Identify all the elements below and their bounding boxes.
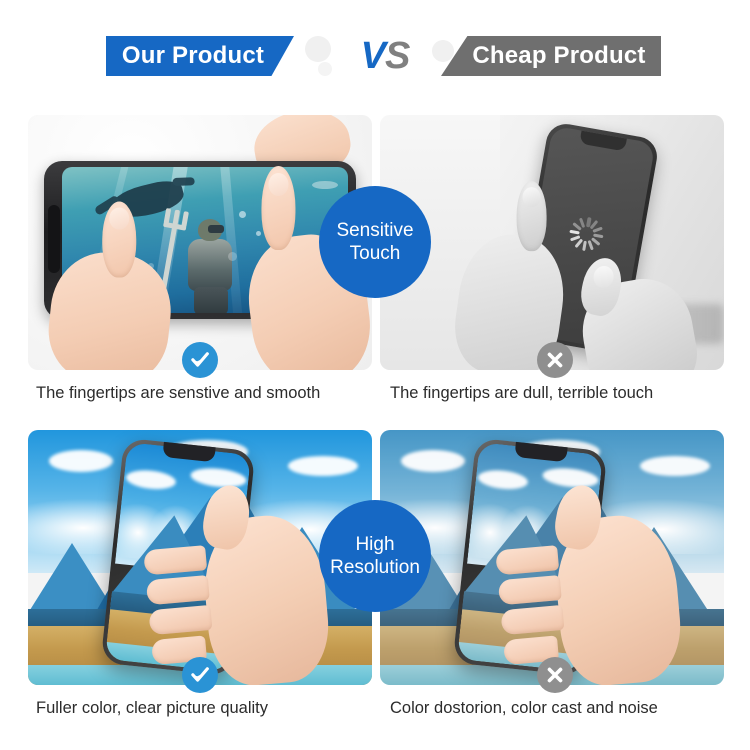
cloud [288,456,358,476]
diver-legs [194,287,228,313]
finger [500,605,564,635]
fingernail [592,264,616,290]
finger [143,545,207,575]
comparison-infographic: Our Product VS Cheap Product [0,0,750,750]
feature-badge-label: SensitiveTouch [330,219,419,265]
fish-shape [312,181,338,189]
check-icon [182,657,218,693]
panel-top-right [380,115,724,370]
our-product-label: Our Product [122,42,264,70]
feature-badge-sensitive-touch: SensitiveTouch [319,186,431,298]
fingernail [523,187,541,207]
bubble [239,211,246,218]
our-product-banner: Our Product [106,36,294,76]
header: Our Product VS Cheap Product [0,0,750,100]
phone-notch [579,131,627,152]
diver-mask [208,225,224,233]
scene-high-resolution-bad [380,430,724,685]
fingernail [109,208,129,230]
finger [146,575,210,605]
scene-sensitive-touch-bad [380,115,724,370]
finger [498,575,562,605]
diver-main [180,219,242,311]
bubble [256,231,261,236]
cloud [640,456,710,476]
vs-separator: VS [345,30,425,82]
caption-top-left: The fingertips are senstive and smooth [36,384,320,403]
cheap-product-banner: Cheap Product [441,36,661,76]
vs-letter-s: S [385,35,409,78]
vs-letter-v: V [361,35,385,78]
panel-bottom-right [380,430,724,685]
loading-spinner-icon [567,214,606,253]
finger [148,605,212,635]
caption-bottom-right: Color dostorion, color cast and noise [390,699,658,718]
phone-notch [48,205,60,273]
diver-body [188,239,232,291]
decorative-dot [305,36,331,62]
finger [495,545,559,575]
finger [102,202,136,278]
check-icon [182,342,218,378]
fingers [143,545,219,670]
feature-badge-high-resolution: HighResolution [319,500,431,612]
cheap-product-label: Cheap Product [472,42,645,70]
fingernail [268,173,288,196]
finger [261,166,295,250]
bubble [228,252,237,261]
fingers [495,545,571,670]
caption-bottom-left: Fuller color, clear picture quality [36,699,268,718]
x-icon [537,657,573,693]
feature-badge-label: HighResolution [324,533,426,579]
caption-top-right: The fingertips are dull, terrible touch [390,384,653,403]
finger [517,181,547,251]
decorative-dot [318,62,332,76]
decorative-dot [432,40,454,62]
x-icon [537,342,573,378]
